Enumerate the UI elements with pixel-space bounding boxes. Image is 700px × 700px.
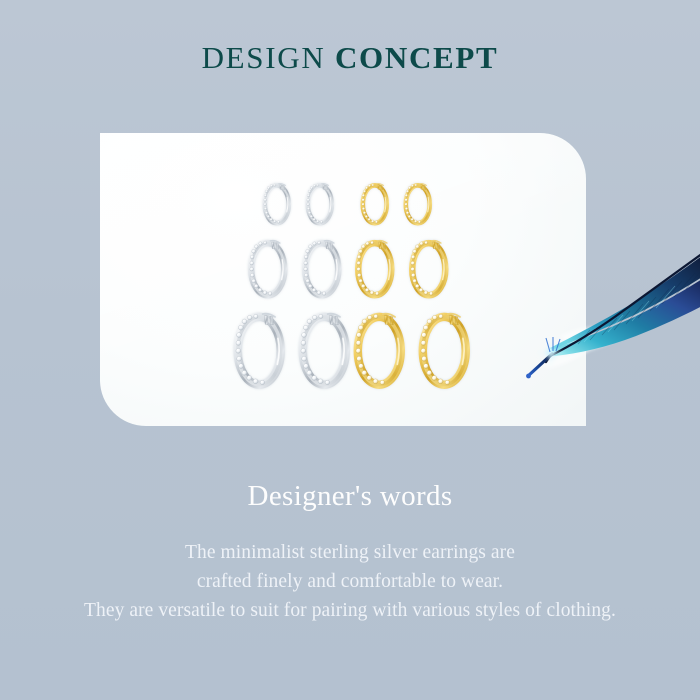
earring-pair-small-gold [362,184,430,224]
earring-pair-large-gold [356,314,466,385]
designer-words-line-1: The minimalist sterling silver earrings … [0,538,700,567]
earring-pair-large-silver [236,314,346,385]
product-card [100,133,586,426]
page-title-light: DESIGN [202,40,326,75]
earring-pair-medium-silver [250,241,338,296]
designer-words-line-2: crafted finely and comfortable to wear. [0,567,700,596]
designer-words-line-3: They are versatile to suit for pairing w… [0,596,700,625]
page-title: DESIGN CONCEPT [0,42,700,73]
earrings-image [100,133,586,426]
designer-words-body: The minimalist sterling silver earrings … [0,538,700,625]
earring-pair-medium-gold [357,241,445,296]
earring-pair-small-silver [264,184,332,224]
page-title-bold: CONCEPT [335,40,499,75]
designer-words-heading: Designer's words [0,481,700,513]
